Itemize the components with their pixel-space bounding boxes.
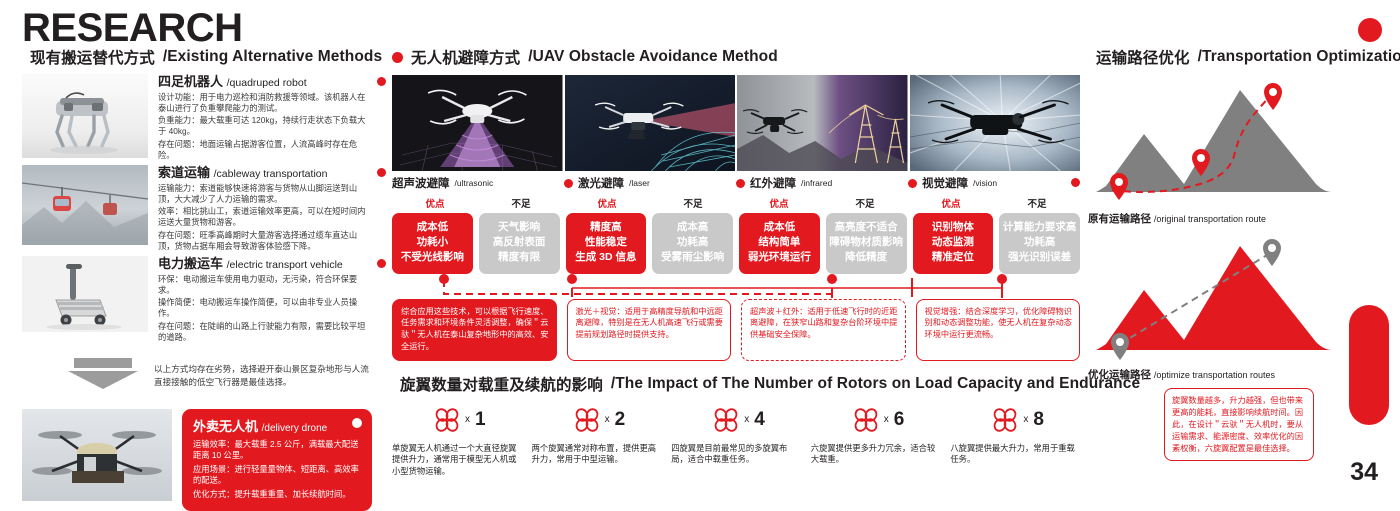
infrared-drone-photo (737, 75, 908, 171)
propeller-icon (992, 408, 1018, 432)
card-vision-pro: 识别物体 动态监测 精准定位 (913, 213, 994, 274)
method-marker-dot-icon (377, 77, 386, 86)
note-laser-vision: 激光＋视觉：适用于高精度导航和中远距离避障，特别是在无人机高速飞行或需要提前规划… (567, 299, 732, 361)
left-column: 现有搬运替代方式 /Existing Alternative Methods (22, 46, 372, 511)
method-item-quadruped: 四足机器人 /quadruped robot 设计功能：用于电力巡检和消防救援等… (22, 74, 372, 162)
delivery-drone-p1: 运输效率：最大载重 2.5 公斤，满载最大配送距离 10 公里。 (193, 439, 362, 461)
uav-image-strip (392, 75, 1080, 171)
card-laser-pro: 精度高 性能稳定 生成 3D 信息 (566, 213, 647, 274)
card-vision-con: 计算能力要求高 功耗高 强光识别误差 (999, 213, 1080, 274)
delivery-drone-row: 外卖无人机 /delivery drone 运输效率：最大载重 2.5 公斤，满… (22, 409, 372, 511)
method-item-electric-cart: 电力搬运车 /electric transport vehicle 环保：电动搬… (22, 256, 372, 344)
rotor-item-2: x 2 两个旋翼通常对称布置，提供更高升力，常用于中型运输。 (532, 403, 662, 478)
laser-drone-photo (565, 75, 736, 171)
card-laser-con: 成本高 功耗高 受雾雨尘影响 (652, 213, 733, 274)
rotor-item-8: x 8 八旋翼提供最大升力，常用于重载任务。 (950, 403, 1080, 478)
col-header-con-3: 不足 (822, 196, 908, 210)
optimized-route-diagram: 优化运输路径 /optimize transportation routes (1088, 232, 1388, 382)
section-header-rotor-impact: 旋翼数量对载重及续航的影响 /The Impact of The Number … (392, 373, 1080, 395)
quadruped-p3: 存在问题：地面运输占据游客位置，人流高峰时存在危险。 (158, 139, 372, 161)
decorative-red-bar (1349, 305, 1389, 425)
delivery-drone-p2: 应用场景：进行轻量量物体、短距离、高效率的配送。 (193, 464, 362, 486)
page-number: 34 (1350, 458, 1378, 487)
col-header-con-1: 不足 (478, 196, 564, 210)
optimized-route-caption: 优化运输路径 /optimize transportation routes (1088, 367, 1388, 382)
conclusion-arrow-row: 以上方式均存在劣势，选择避开泰山景区复杂地形与人流直接接触的低空飞行器是最佳选择… (22, 356, 372, 395)
rotor-2-multiplier: x (605, 414, 610, 425)
electric-cart-p1: 环保：电动搬运车使用电力驱动，无污染，符合环保要求。 (158, 274, 372, 296)
electric-cart-title: 电力搬运车 /electric transport vehicle (158, 257, 372, 272)
pro-con-card-row: 成本低 功耗小 不受光线影响 天气影响 高反射表面 精度有限 精度高 性能稳定 … (392, 213, 1080, 274)
rotor-2-header: x 2 (532, 403, 662, 437)
section-header-transportation: 运输路径优化 /Transportation Optimization (1088, 46, 1388, 68)
propeller-icon (434, 408, 460, 432)
col-header-con-4: 不足 (994, 196, 1080, 210)
left-heading-en: /Existing Alternative Methods (163, 48, 382, 66)
uav-heading-en: /UAV Obstacle Avoidance Method (528, 48, 778, 66)
delivery-drone-card: 外卖无人机 /delivery drone 运输效率：最大载重 2.5 公斤，满… (182, 409, 372, 511)
middle-column: 无人机避障方式 /UAV Obstacle Avoidance Method (392, 46, 1080, 477)
right-column: 运输路径优化 /Transportation Optimization (1088, 46, 1388, 382)
uav-label-ultrasonic: 超声波避障 /ultrasonic (392, 175, 564, 191)
rotor-6-text: 六旋翼提供更多升力冗余，适合较大载重。 (811, 443, 941, 466)
section-header-uav-avoidance: 无人机避障方式 /UAV Obstacle Avoidance Method (392, 46, 1080, 68)
uav-label-infrared: 红外避障 /infrared (736, 175, 908, 191)
col-header-con-2: 不足 (650, 196, 736, 210)
bullet-dot-icon (1071, 178, 1080, 187)
map-pin-icon (1264, 83, 1282, 110)
arrow-note-text: 以上方式均存在劣势，选择避开泰山景区复杂地形与人流直接接触的低空飞行器是最佳选择… (154, 363, 372, 388)
cableway-photo (22, 165, 148, 245)
bullet-dot-icon (392, 52, 403, 63)
rotor-4-count: 4 (754, 409, 765, 431)
strategy-notes-row: 综合应用这些技术，可以根据飞行速度、任务需求和环境条件灵活调整，确保＂云驮＂无人… (392, 299, 1080, 361)
uav-method-labels: 超声波避障 /ultrasonic 激光避障 /laser 红外避障 /infr… (392, 175, 1080, 191)
uav-label-vision: 视觉避障 /vision (908, 175, 1080, 191)
transport-heading-en: /Transportation Optimization (1198, 48, 1400, 66)
quadruped-p2: 负重能力：最大载重可达 120kg，持续行走状态下负载大于 40kg。 (158, 115, 372, 137)
rotor-2-text: 两个旋翼通常对称布置，提供更高升力，常用于中型运输。 (532, 443, 662, 466)
quadruped-robot-photo (22, 74, 148, 158)
card-infrared-pro: 成本低 结构简单 弱光环境运行 (739, 213, 820, 274)
propeller-icon (853, 408, 879, 432)
rotor-4-text: 四旋翼是目前最常见的多旋翼布局，适合中载重任务。 (671, 443, 801, 466)
rotor-1-text: 单旋翼无人机通过一个大直径旋翼提供升力，通常用于模型无人机或小型货物运输。 (392, 443, 522, 478)
delivery-drone-photo (22, 409, 172, 501)
delivery-drone-title: 外卖无人机 /delivery drone (193, 416, 362, 435)
ultrasonic-drone-photo (392, 75, 563, 171)
map-pin-icon (1111, 333, 1129, 360)
conclusion-note: 旋翼数量越多，升力越强，但也带来更高的能耗，直接影响续航时间。因此，在设计＂云驮… (1164, 388, 1314, 461)
method-item-cableway: 索道运输 /cableway transportation 运输能力：索道能够快… (22, 165, 372, 253)
rotor-4-multiplier: x (744, 414, 749, 425)
rotor-item-6: x 6 六旋翼提供更多升力冗余，适合较大载重。 (811, 403, 941, 478)
connector-lines-graphic (392, 274, 1080, 300)
electric-cart-text-block: 电力搬运车 /electric transport vehicle 环保：电动搬… (158, 256, 372, 344)
card-infrared-con: 高亮度不适合 障碍物材质影响 降低精度 (826, 213, 907, 274)
note-combined-strategy: 综合应用这些技术，可以根据飞行速度、任务需求和环境条件灵活调整，确保＂云驮＂无人… (392, 299, 557, 361)
rotor-8-header: x 8 (950, 403, 1080, 437)
decorative-dot-icon (1358, 18, 1382, 42)
col-header-pro-2: 优点 (564, 196, 650, 210)
note-ultrasonic-infrared: 超声波＋红外：适用于低速飞行时的近距离避障，在狭窄山路和复杂台阶环境中提供基础安… (741, 299, 906, 361)
down-arrow-icon (66, 356, 140, 395)
pro-con-header-row: 优点 不足 优点 不足 优点 不足 优点 不足 (392, 196, 1080, 210)
delivery-drone-p3: 优化方式：提升载重重量、加长续航时间。 (193, 489, 362, 500)
cableway-p2: 效率：相比挑山工，索道运输效率更高，可以在短时间内运送大量货物和游客。 (158, 206, 372, 228)
cableway-p3: 存在问题：旺季高峰期时大量游客选择通过缆车直达山顶，货物占据车厢会导致游客体验感… (158, 230, 372, 252)
col-header-pro-4: 优点 (908, 196, 994, 210)
rotor-heading-cn: 旋翼数量对载重及续航的影响 (400, 373, 603, 395)
page-title: RESEARCH (22, 8, 242, 48)
electric-cart-p3: 存在问题：在陡峭的山路上行驶能力有限，需要比较平坦的道路。 (158, 321, 372, 343)
poster-page: RESEARCH 现有搬运替代方式 /Existing Alternative … (0, 0, 1400, 495)
col-header-pro-3: 优点 (736, 196, 822, 210)
rotor-6-header: x 6 (811, 403, 941, 437)
propeller-icon (574, 408, 600, 432)
bullet-dot-icon (736, 179, 745, 188)
rotor-4-header: x 4 (671, 403, 801, 437)
note-vision-enhanced: 视觉增强：结合深度学习，优化障碍物识别和动态调整功能，使无人机在复杂动态环境中运… (916, 299, 1081, 361)
rotor-1-multiplier: x (465, 414, 470, 425)
rotor-1-count: 1 (475, 409, 486, 431)
quadruped-p1: 设计功能：用于电力巡检和消防救援等领域。该机器人在泰山进行了负重攀爬能力的测试。 (158, 92, 372, 114)
rotor-2-count: 2 (615, 409, 626, 431)
cableway-text-block: 索道运输 /cableway transportation 运输能力：索道能够快… (158, 165, 372, 253)
transport-heading-cn: 运输路径优化 (1096, 46, 1190, 68)
card-ultrasonic-con: 天气影响 高反射表面 精度有限 (479, 213, 560, 274)
map-pin-icon (1263, 239, 1281, 266)
bullet-dot-icon (908, 179, 917, 188)
quadruped-title: 四足机器人 /quadruped robot (158, 75, 372, 90)
rotor-6-multiplier: x (884, 414, 889, 425)
rotor-item-4: x 4 四旋翼是目前最常见的多旋翼布局，适合中载重任务。 (671, 403, 801, 478)
rotor-6-count: 6 (894, 409, 905, 431)
rotor-heading-en: /The Impact of The Number of Rotors on L… (611, 375, 1140, 393)
electric-cart-photo (22, 256, 148, 332)
method-marker-dot-icon (377, 259, 386, 268)
electric-cart-p2: 操作简便：电动搬运车操作简便，可以由非专业人员操作。 (158, 297, 372, 319)
rotor-8-text: 八旋翼提供最大升力，常用于重载任务。 (950, 443, 1080, 466)
quadruped-text-block: 四足机器人 /quadruped robot 设计功能：用于电力巡检和消防救援等… (158, 74, 372, 162)
cableway-p1: 运输能力：索道能够快速将游客与货物从山脚运送到山顶，大大减少了人力运输的需求。 (158, 183, 372, 205)
map-pin-icon (1110, 173, 1128, 200)
method-marker-dot-icon (377, 168, 386, 177)
original-route-diagram: 原有运输路径 /original transportation route (1088, 72, 1388, 226)
left-heading-cn: 现有搬运替代方式 (30, 46, 155, 68)
uav-label-laser: 激光避障 /laser (564, 175, 736, 191)
rotor-1-header: x 1 (392, 403, 522, 437)
rotor-comparison-row: x 1 单旋翼无人机通过一个大直径旋翼提供升力，通常用于模型无人机或小型货物运输… (392, 403, 1080, 478)
bullet-dot-icon (564, 179, 573, 188)
original-route-caption: 原有运输路径 /original transportation route (1088, 211, 1388, 226)
rotor-8-multiplier: x (1023, 414, 1028, 425)
vision-drone-photo (910, 75, 1081, 171)
card-ultrasonic-pro: 成本低 功耗小 不受光线影响 (392, 213, 473, 274)
col-header-pro-1: 优点 (392, 196, 478, 210)
section-header-existing-methods: 现有搬运替代方式 /Existing Alternative Methods (22, 46, 372, 68)
uav-heading-cn: 无人机避障方式 (411, 46, 520, 68)
rotor-item-1: x 1 单旋翼无人机通过一个大直径旋翼提供升力，通常用于模型无人机或小型货物运输… (392, 403, 522, 478)
propeller-icon (713, 408, 739, 432)
rotor-8-count: 8 (1033, 409, 1044, 431)
cableway-title: 索道运输 /cableway transportation (158, 166, 372, 181)
